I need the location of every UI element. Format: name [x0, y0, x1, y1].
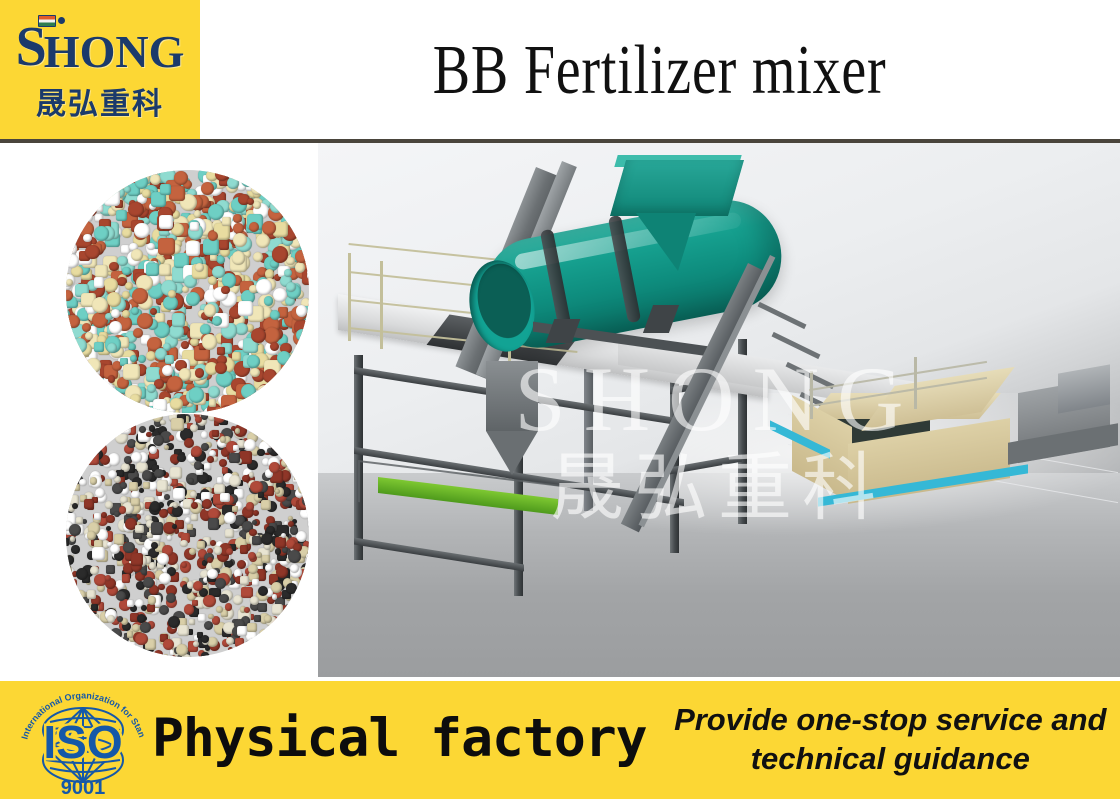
product-promo-image: S HONG 晟弘重科 BB Fertilizer mixer — [0, 0, 1120, 799]
page-title: BB Fertilizer mixer — [433, 31, 887, 111]
main-content: SHONG 晟弘重科 — [0, 143, 1120, 677]
machinery-render: SHONG 晟弘重科 — [318, 143, 1120, 677]
product-photo-column — [0, 143, 318, 677]
flag-icon — [38, 15, 56, 27]
logo-wordmark-text: HONG — [44, 29, 185, 75]
footer-headline: Physical factory — [152, 708, 647, 769]
logo-initial: S — [16, 19, 46, 75]
weighing-silo — [486, 361, 538, 431]
granule-photo-turquoise — [66, 170, 309, 413]
tagline-line-1: Provide one-stop service and — [661, 701, 1120, 740]
granule-photo-redblack — [66, 414, 309, 657]
header: S HONG 晟弘重科 BB Fertilizer mixer — [0, 0, 1120, 141]
silo-discharge-cone — [486, 431, 538, 475]
title-bar: BB Fertilizer mixer — [200, 0, 1120, 141]
footer-banner: ISO 9001 International Organization for … — [0, 681, 1120, 799]
iso-logo-svg: ISO 9001 International Organization for … — [8, 684, 158, 796]
stair-step — [772, 332, 821, 359]
iso-number-text: 9001 — [61, 777, 106, 796]
granule-field — [66, 414, 309, 657]
company-logo: S HONG 晟弘重科 — [0, 0, 200, 141]
granule-field — [66, 170, 309, 413]
platform-column — [354, 355, 363, 560]
footer-tagline: Provide one-stop service and technical g… — [647, 701, 1120, 779]
logo-chinese-name: 晟弘重科 — [36, 79, 164, 123]
bin-rail-post — [810, 371, 813, 419]
iso-mark-text: ISO — [43, 716, 122, 768]
feed-hopper — [610, 160, 744, 216]
iso-9001-logo: ISO 9001 International Organization for … — [8, 684, 158, 796]
tagline-line-2: technical guidance — [661, 740, 1120, 779]
logo-wordmark: S HONG — [16, 19, 185, 75]
stair-step — [758, 302, 807, 329]
hopper-discharge-cone — [636, 213, 696, 271]
bin-rail-post — [914, 357, 917, 409]
